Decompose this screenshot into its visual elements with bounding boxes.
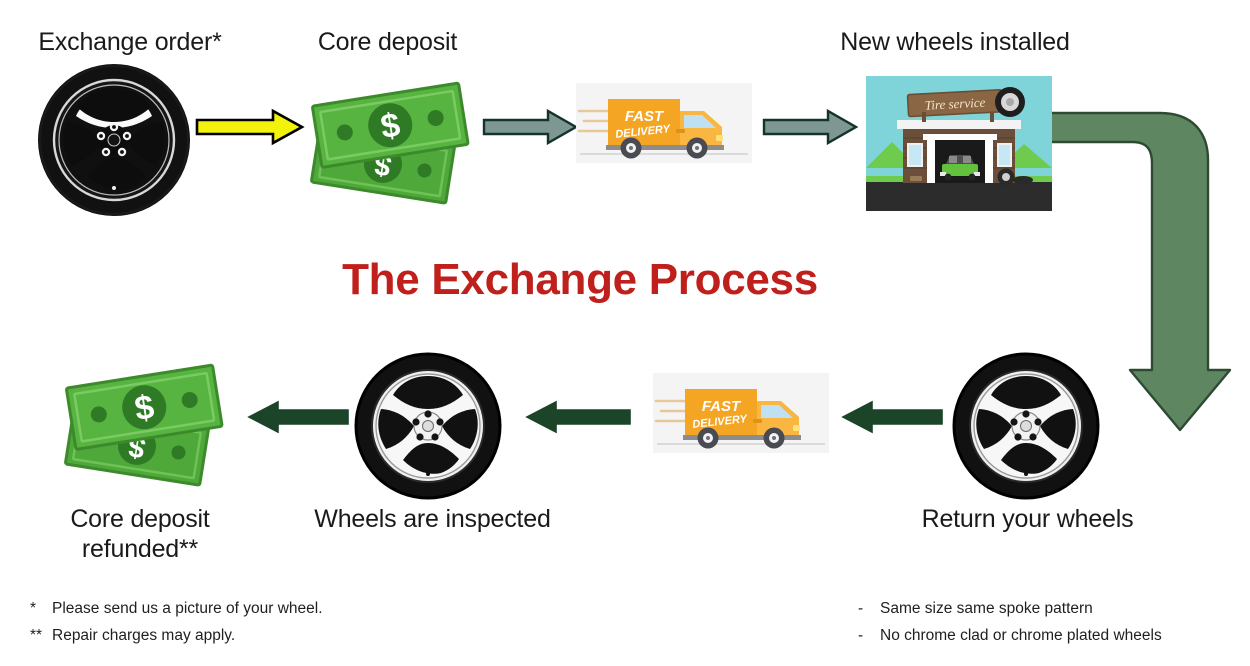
note-left-2-mark: **: [30, 622, 52, 649]
arrow-return-to-shipping: [840, 400, 944, 434]
note-right-2-mark: -: [858, 622, 880, 649]
arrow-shipping-to-inspection: [524, 400, 632, 434]
label-core-deposit-refunded-line1: Core deposit: [25, 505, 255, 535]
money-bills-icon-bottom: $ $: [57, 352, 235, 490]
notes-left: *Please send us a picture of your wheel.…: [30, 595, 323, 649]
fast-delivery-truck-icon-back: FAST DELIVERY: [653, 373, 829, 453]
fast-delivery-truck-icon-out: FAST DELIVERY: [576, 83, 752, 163]
label-new-wheels-installed: New wheels installed: [810, 28, 1100, 58]
money-bills-icon-top: $ $: [303, 70, 481, 208]
note-left-1-text: Please send us a picture of your wheel.: [52, 600, 323, 617]
tire-service-shop-icon: Tire service: [866, 76, 1052, 211]
label-core-deposit-refunded-line2: refunded**: [25, 535, 255, 565]
black-alloy-wheel-icon: [36, 62, 192, 218]
note-right-2-text: No chrome clad or chrome plated wheels: [880, 627, 1162, 644]
arrow-shipping-to-install: [762, 109, 858, 145]
arrow-inspection-to-refund: [246, 400, 350, 434]
note-right-2: -No chrome clad or chrome plated wheels: [858, 622, 1162, 649]
truck-text-line1: FAST: [625, 108, 665, 125]
label-return-your-wheels: Return your wheels: [895, 505, 1160, 535]
arrow-deposit-to-shipping: [482, 109, 578, 145]
arrow-order-to-deposit: [195, 108, 305, 146]
label-core-deposit: Core deposit: [270, 28, 505, 58]
label-core-deposit-refunded: Core deposit refunded**: [25, 505, 255, 564]
exchange-process-diagram: Exchange order* Core deposit New wheels …: [0, 0, 1250, 666]
notes-right: -Same size same spoke pattern -No chrome…: [858, 595, 1162, 649]
note-left-2-text: Repair charges may apply.: [52, 627, 235, 644]
note-right-1-text: Same size same spoke pattern: [880, 600, 1093, 617]
label-wheels-are-inspected: Wheels are inspected: [300, 505, 565, 535]
label-exchange-order: Exchange order*: [0, 28, 260, 58]
note-right-1: -Same size same spoke pattern: [858, 595, 1162, 622]
silver-alloy-wheel-icon-return: [952, 352, 1100, 500]
note-left-2: **Repair charges may apply.: [30, 622, 323, 649]
note-right-1-mark: -: [858, 595, 880, 622]
svg-text:Tire service: Tire service: [924, 95, 985, 113]
note-left-1: *Please send us a picture of your wheel.: [30, 595, 323, 622]
page-title: The Exchange Process: [0, 255, 1160, 305]
svg-text:FAST: FAST: [702, 398, 742, 415]
silver-alloy-wheel-icon-inspected: [354, 352, 502, 500]
note-left-1-mark: *: [30, 595, 52, 622]
